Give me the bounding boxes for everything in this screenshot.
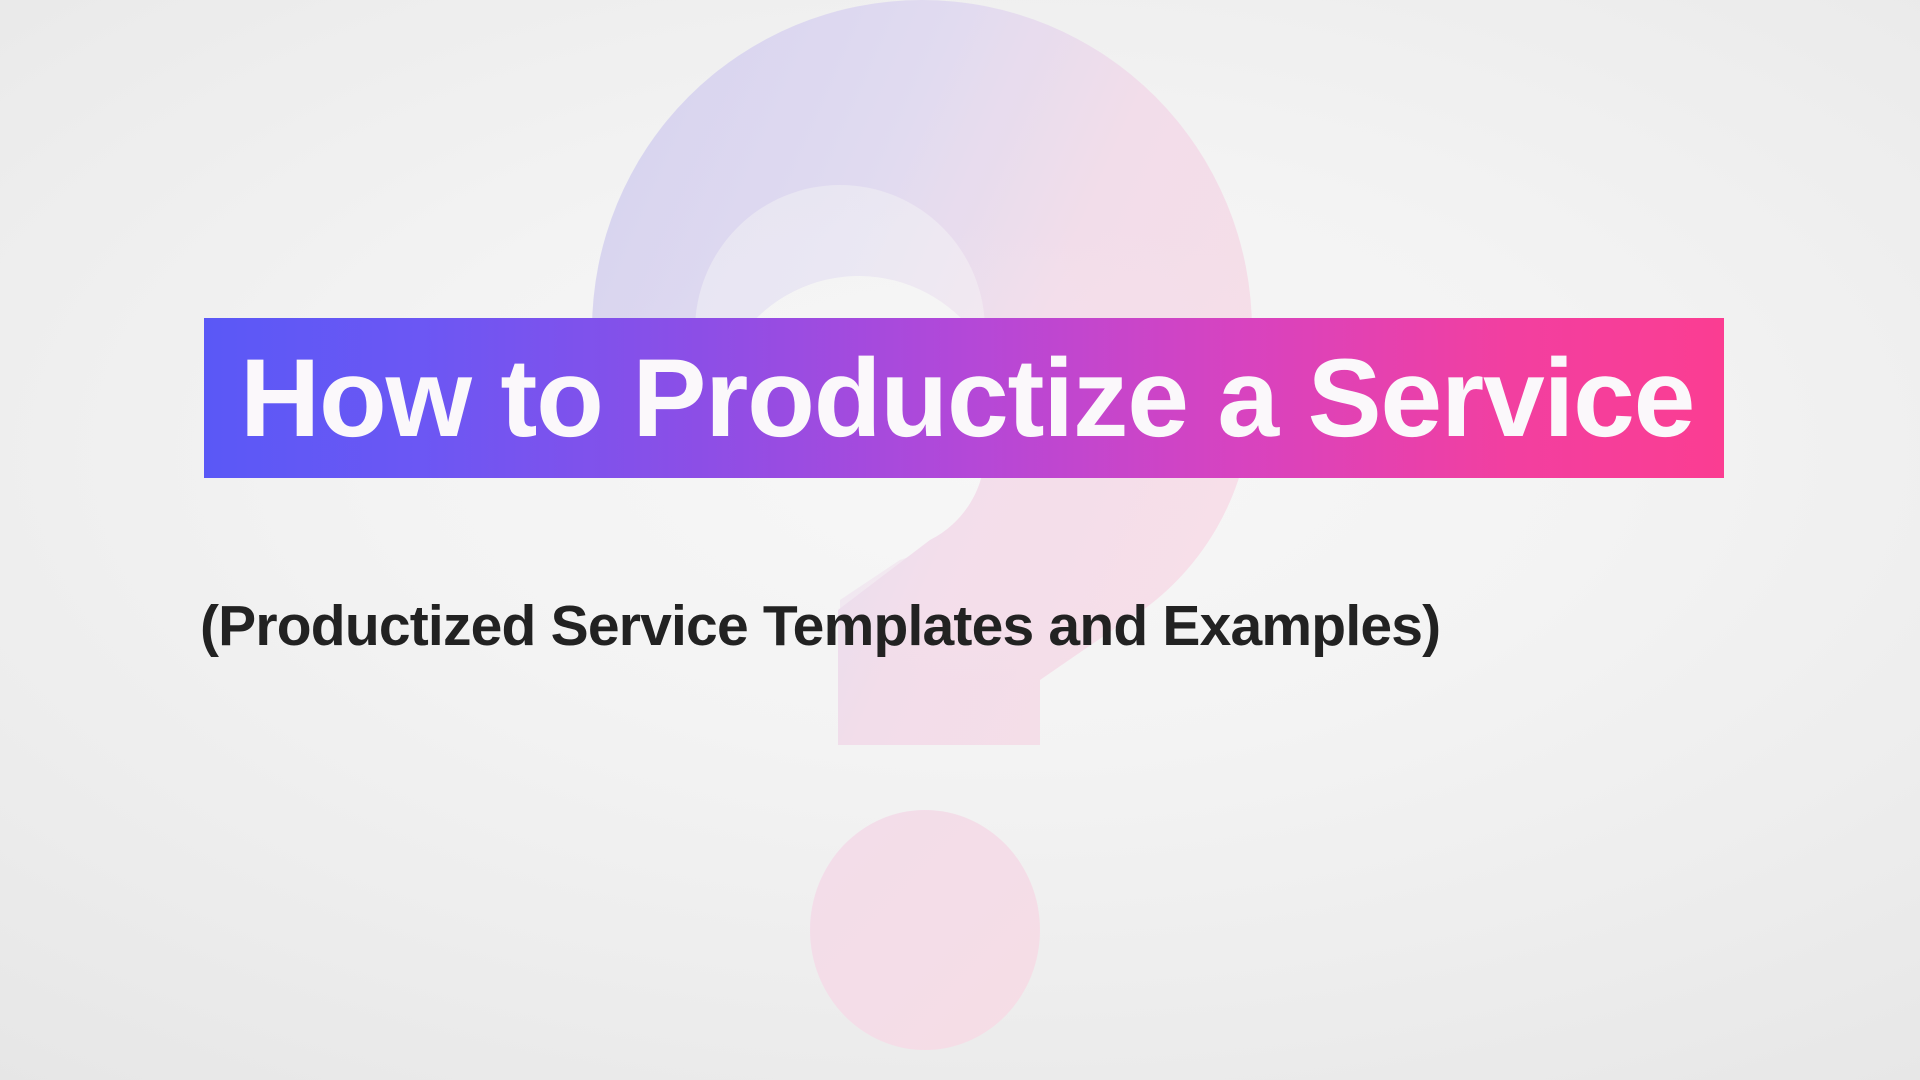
title-banner: How to Productize a Service xyxy=(204,318,1724,478)
header-graphic-canvas: How to Productize a Service (Productized… xyxy=(0,0,1920,1080)
page-title: How to Productize a Service xyxy=(240,343,1694,454)
question-mark-watermark-icon xyxy=(0,0,1920,1080)
page-subtitle: (Productized Service Templates and Examp… xyxy=(200,598,1440,655)
